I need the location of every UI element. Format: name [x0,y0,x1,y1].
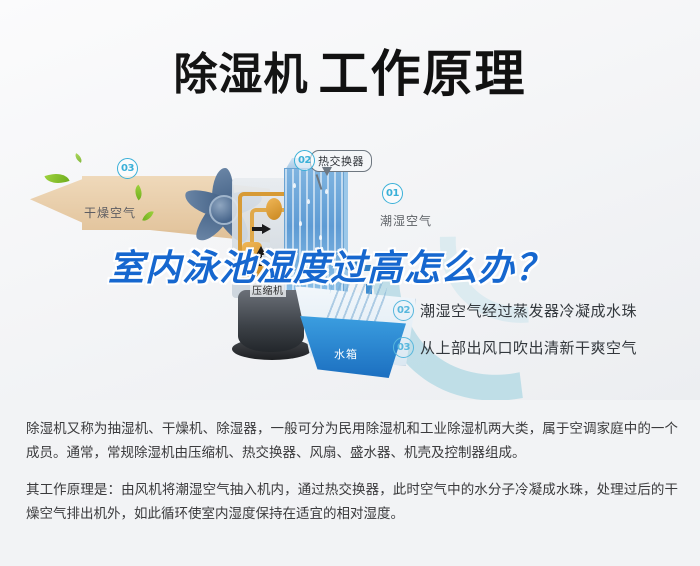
diagram-badge-03: 03 [117,158,138,179]
water-tank-label: 水箱 [334,346,358,362]
legend-badge-02: 02 [393,300,414,321]
legend-text-03: 从上部出风口吹出清新干爽空气 [420,337,637,358]
compressor-unit [238,290,304,352]
infographic-panel: 除湿机工作原理 干燥空气 [0,0,700,400]
legend-item: 03 从上部出风口吹出清新干爽空气 [393,337,693,358]
legend-item: 02 潮湿空气经过蒸发器冷凝成水珠 [393,300,693,321]
watermark-headline: 室内泳池湿度过高怎么办？ [108,248,628,290]
copper-component [266,198,282,220]
water-droplet-icon [299,221,302,226]
water-droplet-icon [325,189,328,194]
legend-text-02: 潮湿空气经过蒸发器冷凝成水珠 [420,300,637,321]
leaf-icon [73,153,84,163]
diagram-badge-02: 02 [294,150,315,171]
water-droplet-icon [319,235,322,240]
water-droplet-icon [307,199,310,204]
dry-air-label: 干燥空气 [84,204,136,221]
heat-exchanger-callout: 热交换器 [310,150,372,172]
article-paragraph-2: 其工作原理是：由风机将潮湿空气抽入机内，通过热交换器，此时空气中的水分子冷凝成水… [26,479,678,526]
callout-tail [322,167,332,176]
leaf-icon [44,169,69,189]
legend-badge-03: 03 [393,337,414,358]
article-paragraph-1: 除湿机又称为抽湿机、干燥机、除湿器，一般可分为民用除湿机和工业除湿机两大类，属于… [26,418,678,465]
title-part-one: 除湿机 [174,49,309,100]
humid-air-label: 潮湿空气 [380,212,432,229]
page-root: 除湿机工作原理 干燥空气 [0,0,700,566]
water-droplet-icon [293,183,296,188]
diagram-badge-01: 01 [382,183,403,204]
article-body: 除湿机又称为抽湿机、干燥机、除湿器，一般可分为民用除湿机和工业除湿机两大类，属于… [26,418,678,541]
legend-list: 02 潮湿空气经过蒸发器冷凝成水珠 03 从上部出风口吹出清新干爽空气 [393,300,693,374]
flow-arrow-right-tail [252,227,264,231]
